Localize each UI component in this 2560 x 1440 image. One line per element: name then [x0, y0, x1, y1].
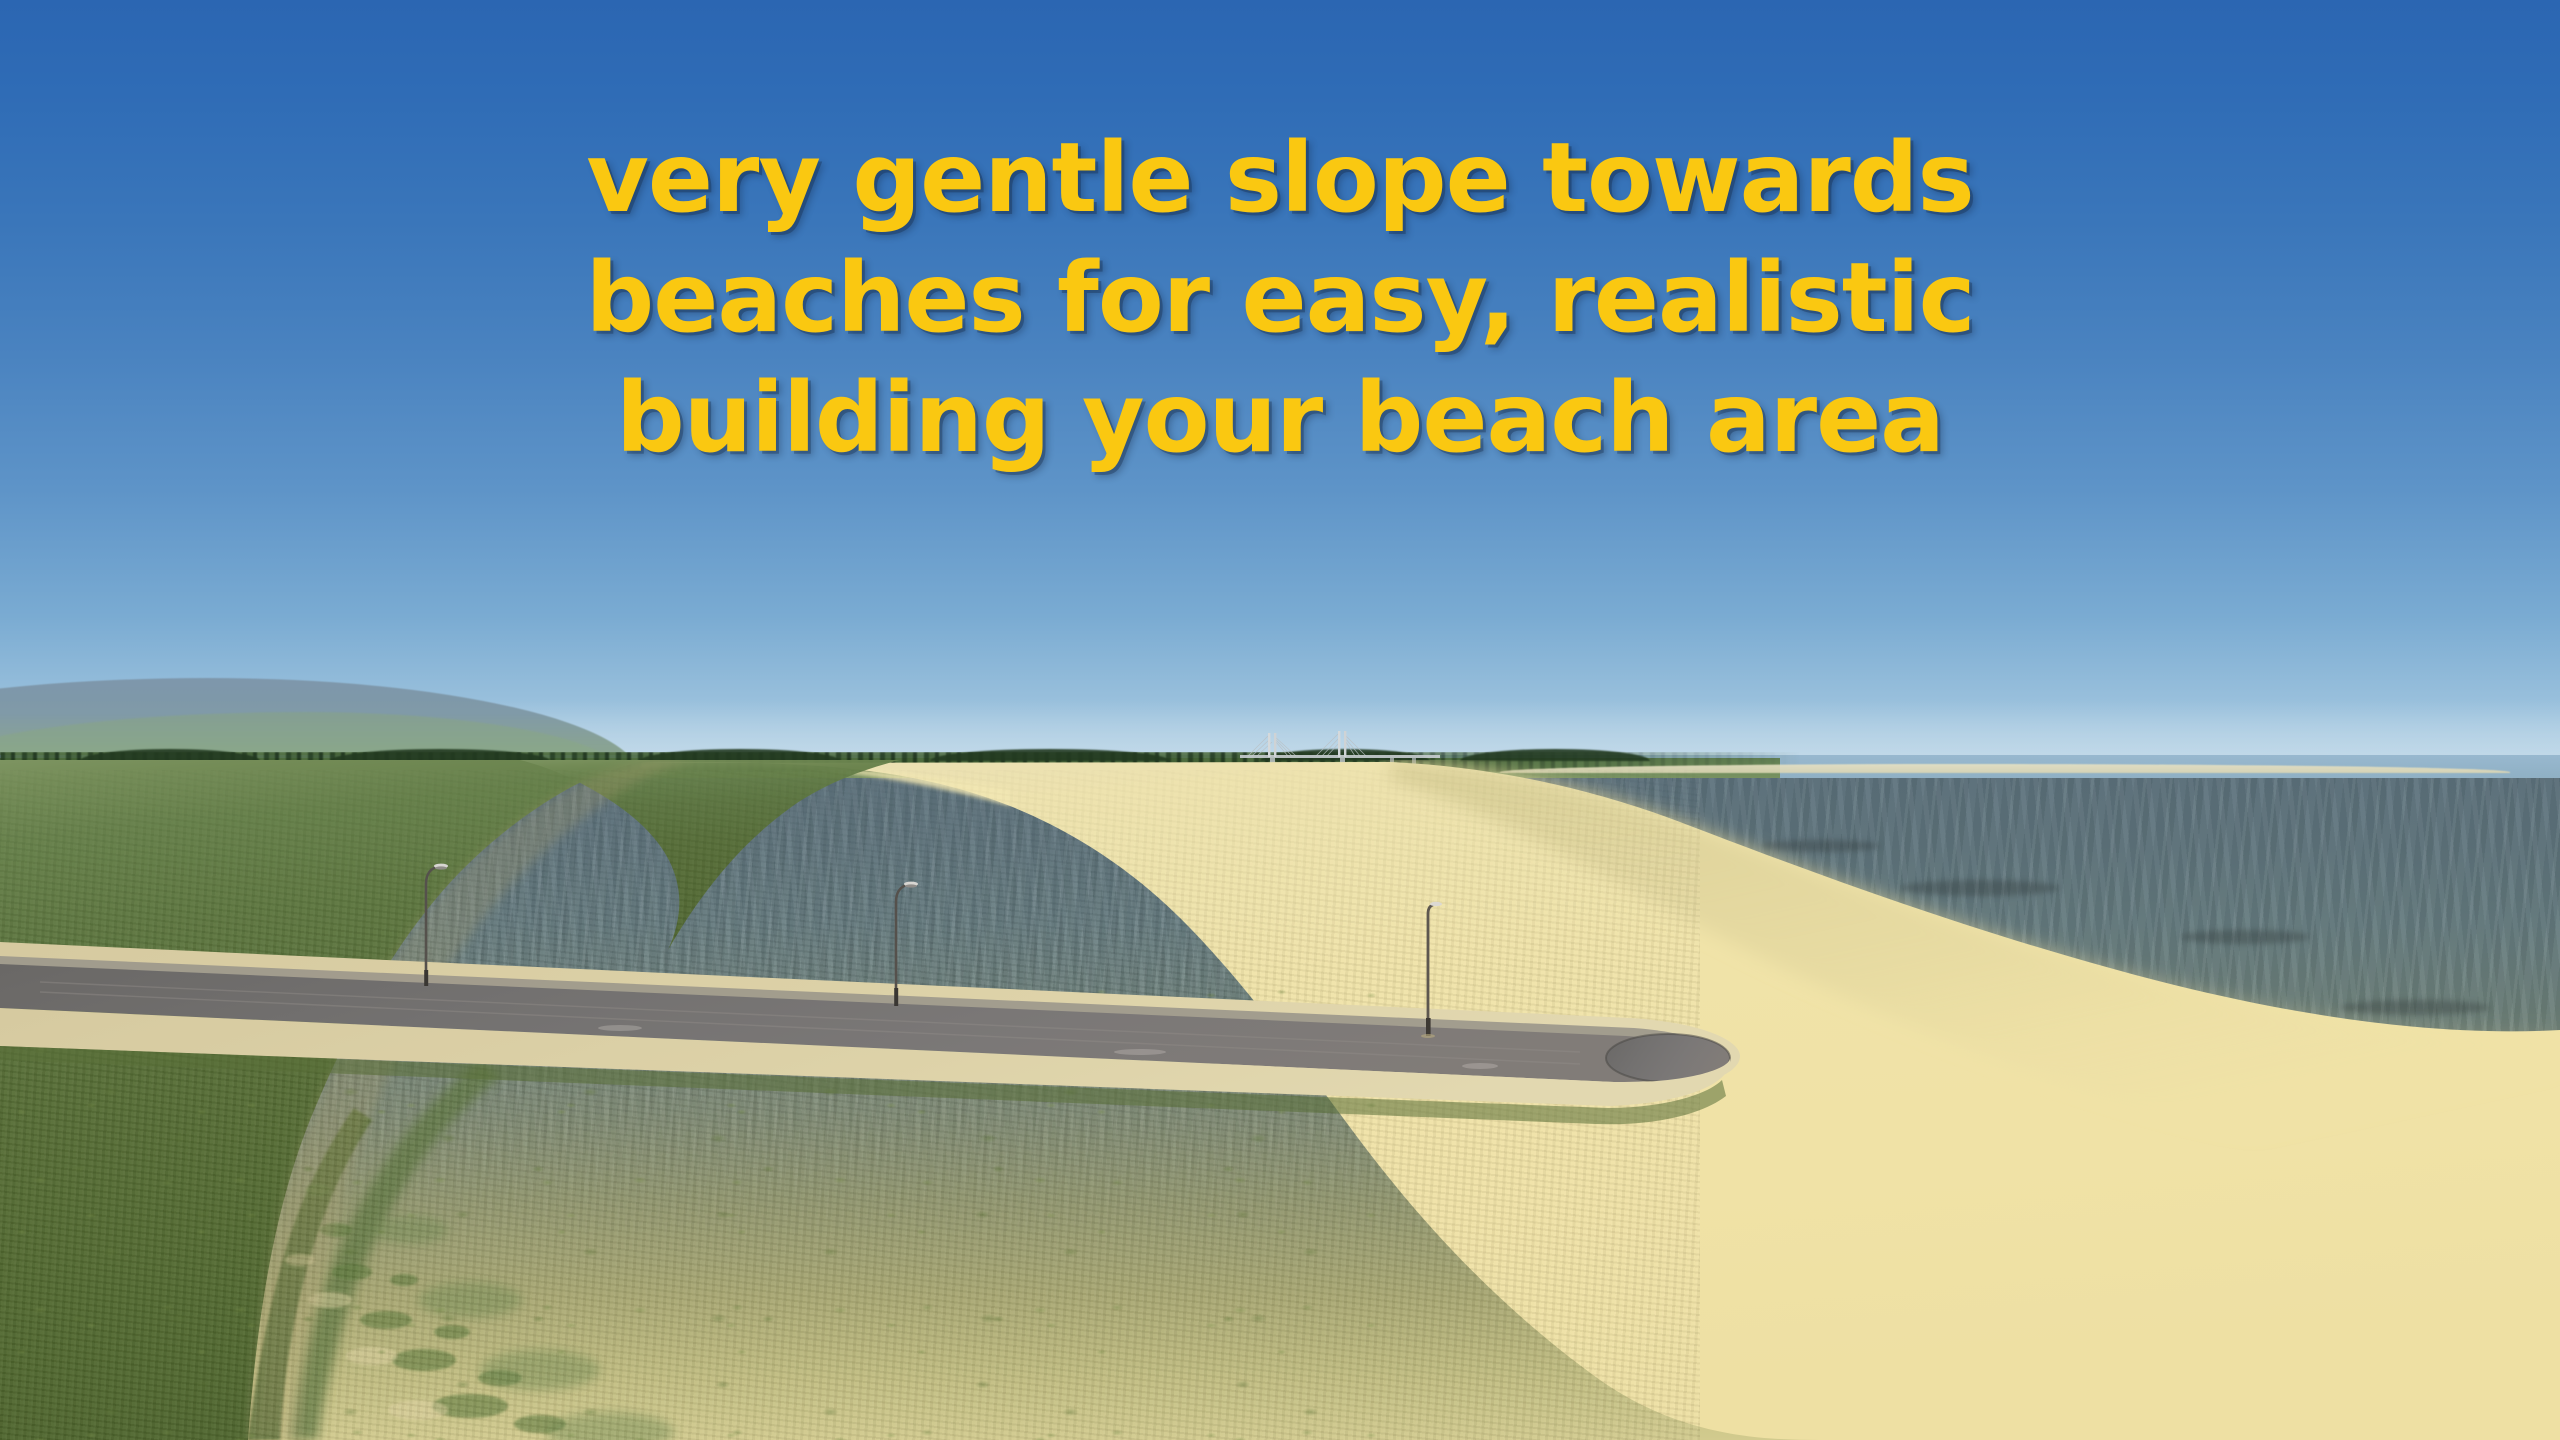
- sky-gradient: [0, 0, 2560, 790]
- street-lamp-3: [1416, 900, 1452, 1036]
- screenshot-canvas: very gentle slope towards beaches for ea…: [0, 0, 2560, 1440]
- coastal-road: [0, 760, 2560, 1440]
- street-lamp-2: [882, 880, 922, 1006]
- street-lamp-1: [410, 860, 450, 986]
